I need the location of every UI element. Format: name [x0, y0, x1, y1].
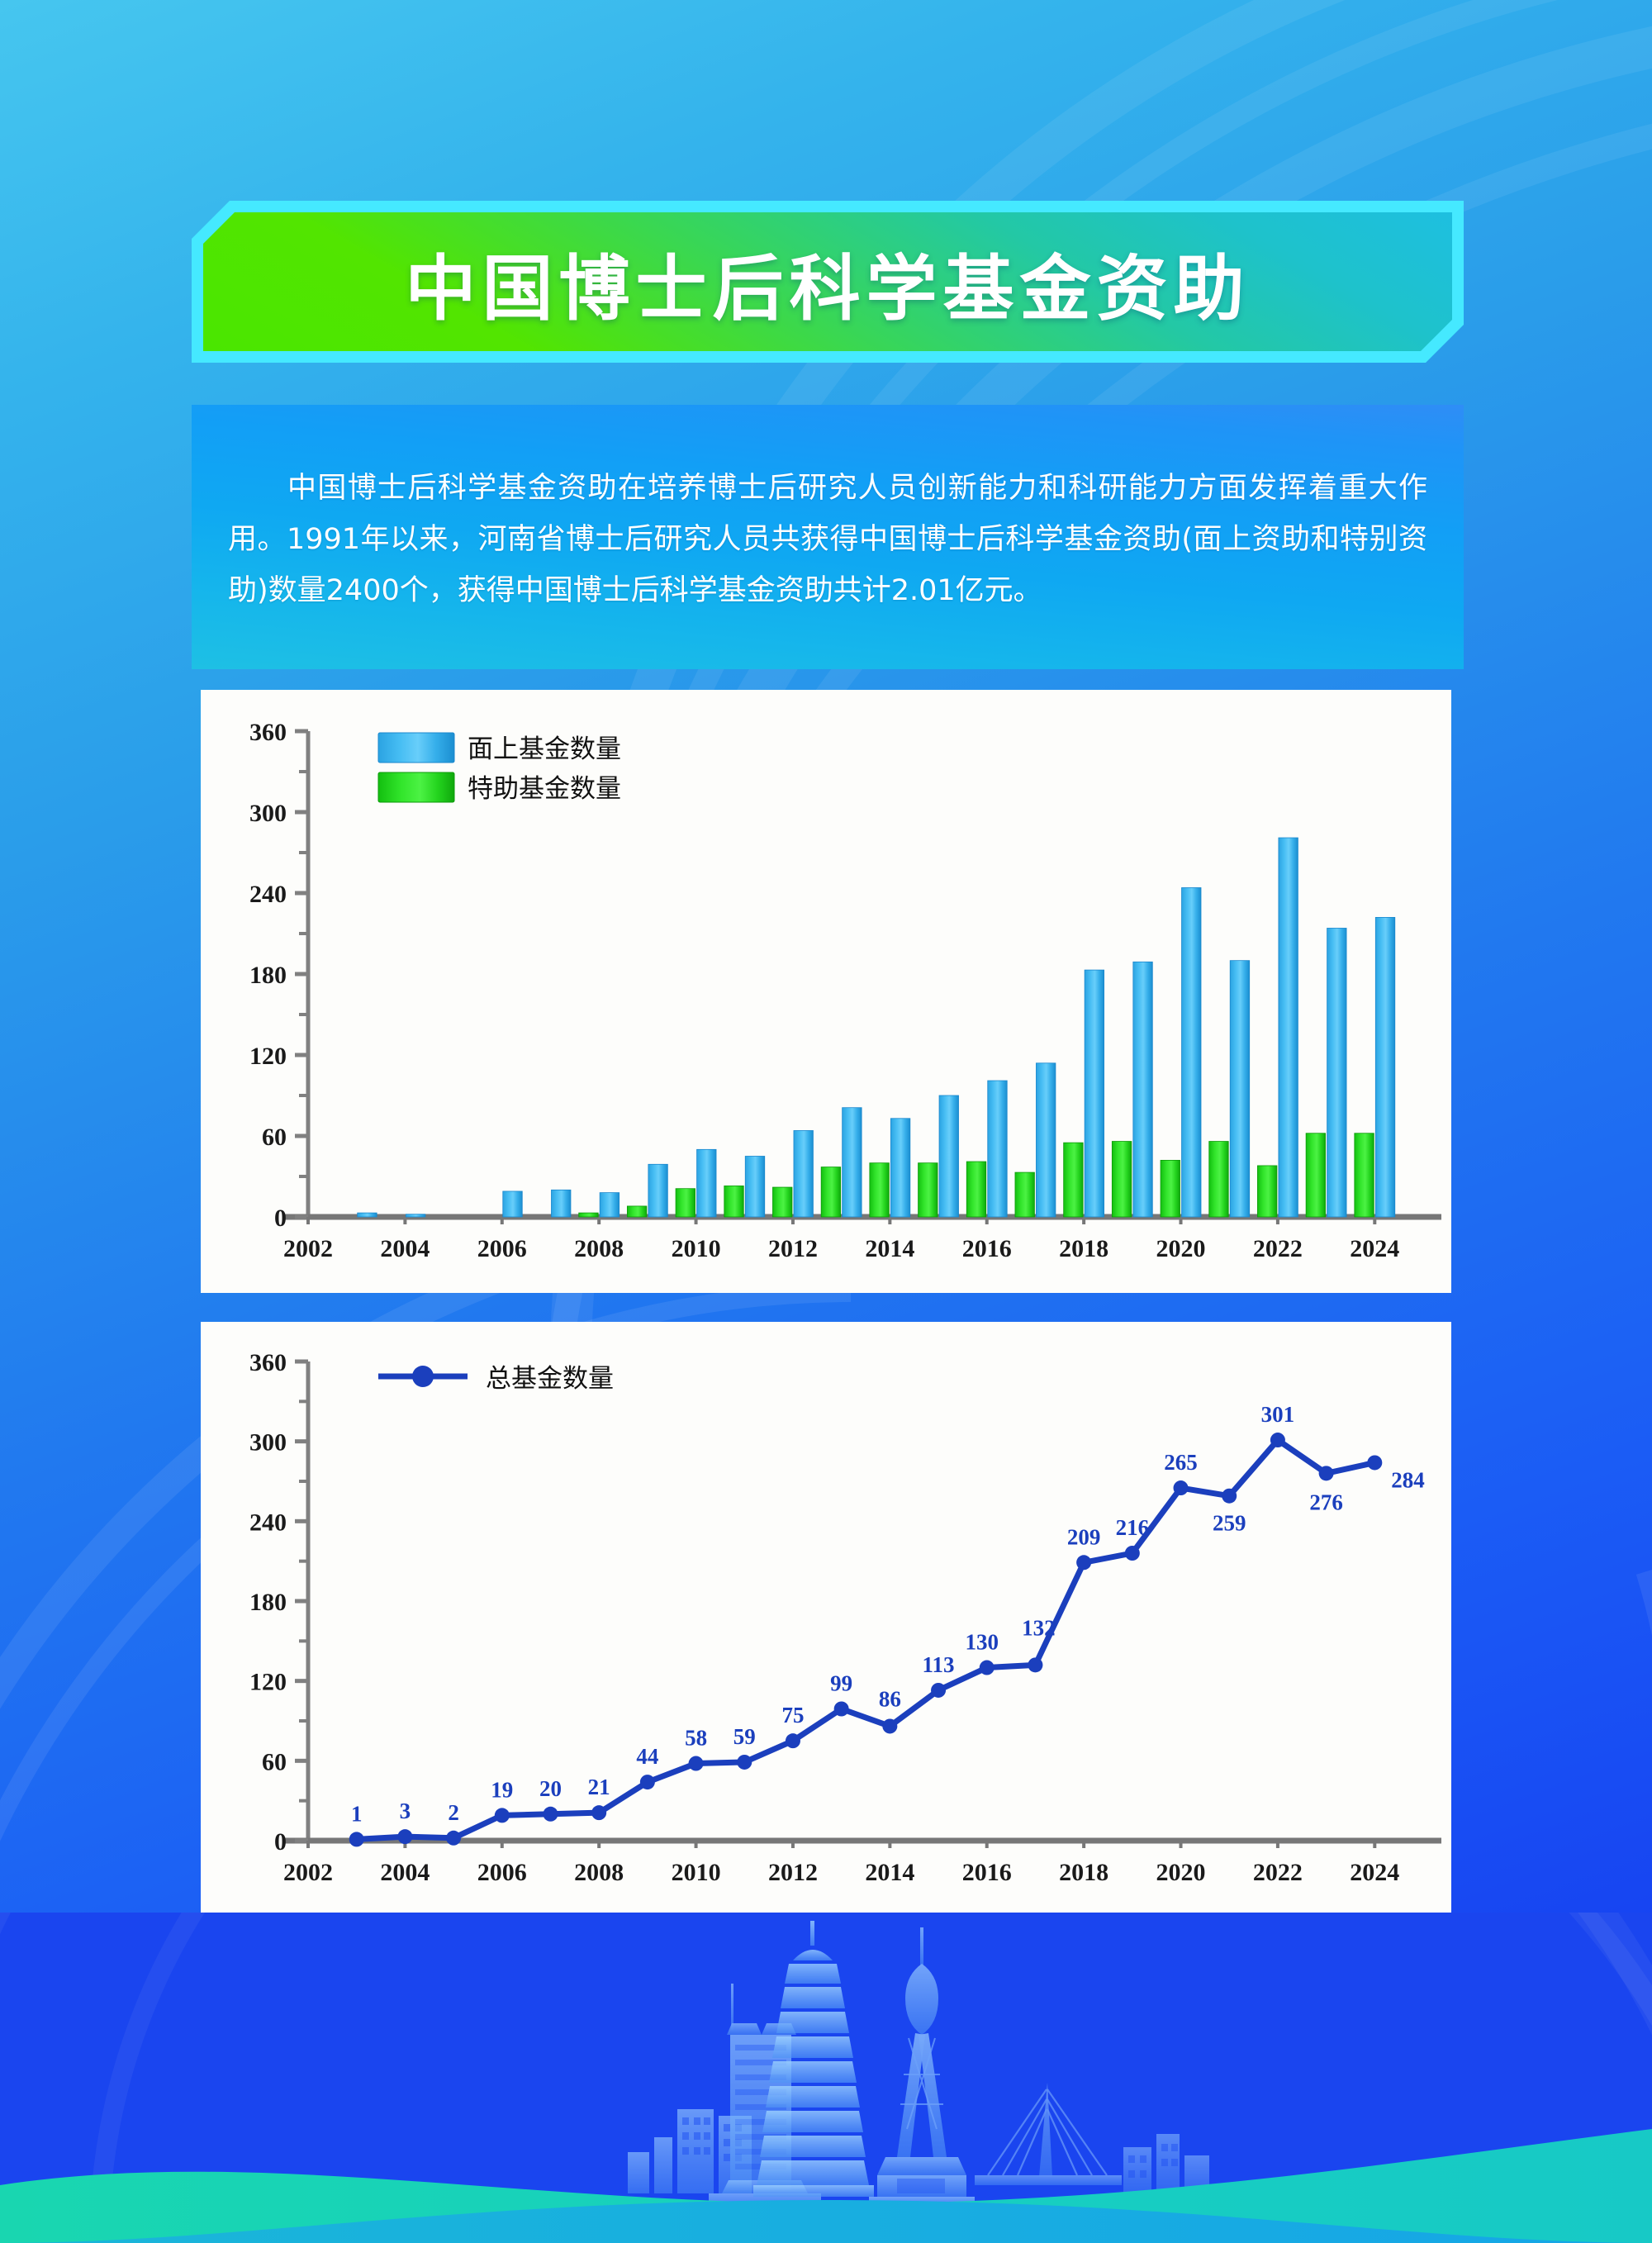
bar-general-fund	[503, 1191, 522, 1217]
bar-general-fund	[843, 1108, 862, 1217]
page-title: 中国博士后科学基金资助	[406, 230, 1251, 334]
bar-special-fund	[1257, 1166, 1276, 1217]
bar-general-fund	[406, 1214, 425, 1217]
bar-chart-panel: 0601201802403003602002200420062008201020…	[201, 690, 1451, 1293]
line-data-point	[1222, 1489, 1237, 1504]
bar-y-tick-label: 360	[249, 719, 287, 746]
line-x-tick-label: 2002	[283, 1859, 333, 1886]
bar-special-fund	[676, 1189, 695, 1217]
bar-y-tick-label: 0	[274, 1205, 287, 1232]
bar-x-tick-label: 2004	[380, 1235, 430, 1262]
line-x-tick-label: 2024	[1350, 1859, 1399, 1886]
line-point-label: 301	[1261, 1402, 1295, 1427]
title-gradient-plate: 中国博士后科学基金资助	[203, 212, 1452, 351]
line-x-tick-label: 2004	[380, 1859, 430, 1886]
bar-general-fund	[794, 1130, 813, 1217]
bar-chart-bars	[358, 838, 1395, 1217]
line-point-label: 58	[685, 1726, 707, 1751]
bar-general-fund	[358, 1213, 377, 1217]
line-data-point	[1028, 1657, 1042, 1672]
bar-general-fund	[1327, 928, 1346, 1217]
line-point-label: 265	[1164, 1450, 1198, 1475]
bar-x-tick-label: 2020	[1156, 1235, 1206, 1262]
line-y-tick-label: 60	[262, 1748, 287, 1775]
line-data-point	[931, 1683, 946, 1698]
line-data-point	[543, 1807, 558, 1822]
legend-marker	[412, 1366, 434, 1387]
line-point-label: 259	[1213, 1511, 1246, 1536]
line-y-tick-label: 120	[249, 1669, 287, 1696]
bar-chart-legend: 面上基金数量特助基金数量	[378, 733, 621, 804]
bar-x-tick-label: 2016	[962, 1235, 1012, 1262]
line-data-point	[737, 1755, 752, 1770]
line-x-tick-label: 2016	[962, 1859, 1012, 1886]
bar-x-tick-label: 2012	[768, 1235, 818, 1262]
line-data-point	[980, 1661, 995, 1675]
line-point-label: 209	[1067, 1524, 1101, 1549]
line-data-point	[882, 1718, 897, 1733]
line-x-tick-label: 2018	[1059, 1859, 1108, 1886]
bar-general-fund	[600, 1193, 619, 1217]
line-y-tick-label: 180	[249, 1589, 287, 1616]
bar-special-fund	[724, 1186, 743, 1217]
line-chart-panel: 0601201802403003602002200420062008201020…	[201, 1322, 1451, 1917]
intro-panel: 中国博士后科学基金资助在培养博士后研究人员创新能力和科研能力方面发挥着重大作用。…	[192, 405, 1464, 669]
line-data-point	[397, 1829, 412, 1844]
line-point-label: 2	[448, 1800, 459, 1825]
bar-special-fund	[1015, 1172, 1034, 1217]
line-point-label: 75	[781, 1703, 804, 1727]
line-y-tick-label: 300	[249, 1429, 287, 1457]
bar-general-fund	[1085, 970, 1104, 1217]
line-point-label: 132	[1022, 1615, 1056, 1640]
bar-general-fund	[1230, 961, 1249, 1217]
bar-x-tick-label: 2024	[1350, 1235, 1399, 1262]
line-point-label: 3	[400, 1799, 411, 1823]
bar-special-fund	[870, 1163, 889, 1217]
bar-x-tick-label: 2014	[865, 1235, 914, 1262]
bar-general-fund	[1133, 962, 1152, 1217]
bar-special-fund	[1112, 1142, 1131, 1217]
bar-general-fund	[988, 1081, 1007, 1217]
line-point-label: 19	[491, 1777, 513, 1802]
line-x-tick-label: 2012	[768, 1859, 818, 1886]
bar-special-fund	[1306, 1133, 1325, 1217]
line-point-label: 284	[1391, 1467, 1425, 1492]
line-x-tick-label: 2022	[1253, 1859, 1303, 1886]
bar-special-fund	[966, 1162, 985, 1217]
bar-special-fund	[821, 1167, 840, 1217]
line-data-point	[446, 1831, 461, 1846]
intro-paragraph: 中国博士后科学基金资助在培养博士后研究人员创新能力和科研能力方面发挥着重大作用。…	[228, 463, 1427, 616]
bar-general-fund	[939, 1095, 958, 1217]
line-y-tick-label: 0	[274, 1828, 287, 1856]
line-x-tick-label: 2006	[477, 1859, 527, 1886]
bar-general-fund	[551, 1190, 570, 1217]
line-data-point	[834, 1702, 849, 1717]
bar-x-tick-label: 2022	[1253, 1235, 1303, 1262]
line-x-tick-label: 2008	[574, 1859, 624, 1886]
line-point-label: 86	[879, 1686, 901, 1711]
bar-special-fund	[1355, 1133, 1374, 1217]
line-data-point	[1125, 1546, 1140, 1561]
bar-special-fund	[919, 1163, 938, 1217]
bar-special-fund	[627, 1206, 646, 1217]
bar-general-fund	[1036, 1063, 1055, 1217]
line-point-label: 21	[588, 1775, 610, 1799]
line-chart-axis: 0601201802403003602002200420062008201020…	[249, 1349, 1441, 1886]
bar-x-tick-label: 2006	[477, 1235, 527, 1262]
bar-special-fund	[772, 1187, 791, 1217]
bar-general-fund	[1279, 838, 1298, 1217]
bar-x-tick-label: 2002	[283, 1235, 333, 1262]
legend-swatch	[378, 772, 454, 802]
legend-label: 总基金数量	[486, 1364, 614, 1394]
line-point-label: 99	[830, 1671, 852, 1696]
bar-general-fund	[745, 1157, 764, 1218]
line-point-label: 1	[351, 1801, 363, 1826]
bar-y-tick-label: 240	[249, 881, 287, 908]
line-y-tick-label: 360	[249, 1349, 287, 1376]
bar-y-tick-label: 300	[249, 800, 287, 827]
bar-general-fund	[890, 1119, 909, 1217]
line-x-tick-label: 2010	[672, 1859, 721, 1886]
bar-general-fund	[648, 1164, 667, 1217]
bar-special-fund	[1209, 1142, 1228, 1217]
line-y-tick-label: 240	[249, 1509, 287, 1536]
bar-general-fund	[1182, 887, 1201, 1217]
line-x-tick-label: 2014	[865, 1859, 914, 1886]
line-point-label: 113	[923, 1652, 955, 1677]
legend-swatch	[378, 733, 454, 763]
line-point-label: 130	[965, 1630, 999, 1655]
line-data-point	[786, 1733, 800, 1748]
footer-skyline	[0, 1913, 1652, 2243]
bar-general-fund	[1375, 917, 1394, 1217]
line-data-point	[1319, 1466, 1334, 1480]
bar-y-tick-label: 120	[249, 1043, 287, 1070]
bar-special-fund	[579, 1213, 598, 1217]
bar-y-tick-label: 180	[249, 962, 287, 989]
line-data-point	[689, 1756, 704, 1771]
line-data-point	[1174, 1480, 1189, 1495]
line-point-label: 59	[733, 1724, 756, 1749]
bar-special-fund	[1161, 1160, 1180, 1217]
line-point-label: 20	[539, 1776, 562, 1801]
bar-y-tick-label: 60	[262, 1124, 287, 1151]
bar-x-tick-label: 2018	[1059, 1235, 1108, 1262]
line-point-label: 44	[636, 1744, 658, 1769]
line-point-label: 276	[1309, 1490, 1343, 1514]
legend-label: 面上基金数量	[468, 734, 621, 764]
line-data-point	[1270, 1433, 1285, 1447]
bar-general-fund	[697, 1149, 716, 1217]
line-data-point	[1076, 1555, 1091, 1570]
line-data-point	[495, 1808, 510, 1822]
bar-special-fund	[1064, 1143, 1083, 1217]
line-point-label: 216	[1116, 1515, 1150, 1540]
line-data-point	[1367, 1455, 1382, 1470]
line-x-tick-label: 2020	[1156, 1859, 1206, 1886]
bar-x-tick-label: 2010	[672, 1235, 721, 1262]
legend-label: 特助基金数量	[468, 774, 621, 804]
poster-title-banner: 中国博士后科学基金资助	[192, 201, 1464, 363]
line-chart-series: 1321920214458597599861131301322092162652…	[349, 1402, 1425, 1846]
line-data-point	[349, 1832, 364, 1846]
line-data-point	[591, 1805, 606, 1820]
bar-x-tick-label: 2008	[574, 1235, 624, 1262]
line-data-point	[640, 1775, 655, 1789]
line-chart-legend: 总基金数量	[378, 1364, 614, 1394]
